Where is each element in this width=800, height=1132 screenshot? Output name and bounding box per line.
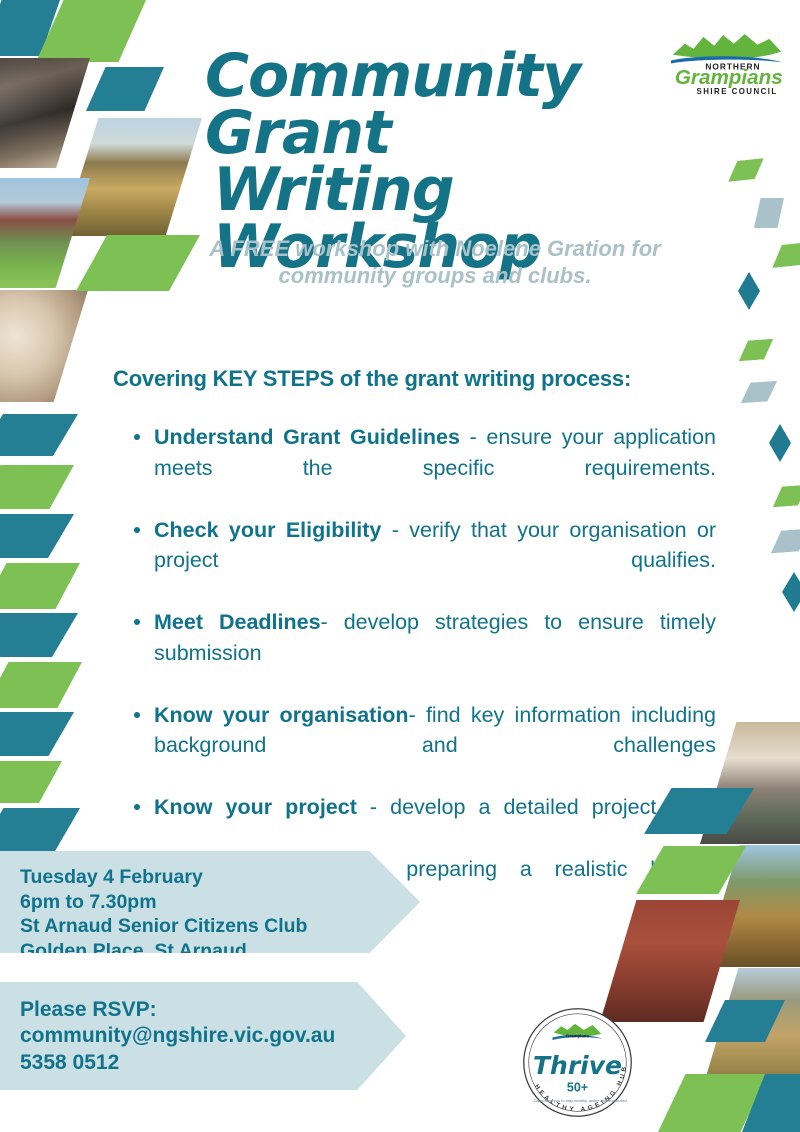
- thrive-logo-mark-label: Grampians: [566, 1034, 589, 1039]
- decor-shape-green: [0, 761, 62, 803]
- decor-shape-teal: [86, 67, 164, 111]
- decor-diamond-grey: [739, 381, 778, 404]
- key-step-item: Know your project - develop a detailed p…: [128, 792, 716, 853]
- key-step-lead: Know your organisation: [154, 703, 409, 727]
- decor-shape-teal: [0, 712, 74, 756]
- decor-diamond-teal: [782, 572, 800, 612]
- key-step-item: Know your organisation- find key informa…: [128, 700, 716, 792]
- rsvp-banner: Please RSVP: community@ngshire.vic.gov.a…: [0, 982, 406, 1090]
- key-step-lead: Know your project: [154, 795, 357, 819]
- key-step-item: Understand Grant Guidelines - ensure you…: [128, 422, 716, 514]
- decor-shape-teal: [0, 414, 78, 456]
- decor-diamond-green: [726, 158, 766, 182]
- decor-diamond-green: [771, 485, 800, 507]
- decor-shape-teal: [0, 514, 74, 558]
- title-line-1: Community Grant: [205, 41, 580, 168]
- key-steps-list: Understand Grant Guidelines - ensure you…: [128, 422, 716, 916]
- decor-shape-green-large: [76, 235, 200, 291]
- thrive-logo-tagline: Supporting you to stay healthy, active a…: [510, 1098, 650, 1103]
- thrive-logo: Grampians Thrive 50+ HEALTHY AGEING HUBS: [515, 1000, 640, 1125]
- key-step-lead: Understand Grant Guidelines: [154, 425, 460, 449]
- decor-shape-green: [0, 563, 80, 609]
- decor-shape-green: [0, 465, 74, 509]
- key-step-item: Meet Deadlines- develop strategies to en…: [128, 607, 716, 699]
- decor-shape-teal: [0, 613, 78, 657]
- decor-diamond-teal: [769, 424, 791, 462]
- key-step-item: Check your Eligibility - verify that you…: [128, 515, 716, 607]
- photo-grampians-rock-escarpment: [62, 118, 202, 236]
- rsvp-text: Please RSVP: community@ngshire.vic.gov.a…: [20, 997, 335, 1076]
- decor-diamond-grey: [754, 198, 784, 228]
- council-logo-name: Grampians: [675, 66, 783, 89]
- thrive-logo-age: 50+: [567, 1080, 588, 1094]
- thrive-logo-name: Thrive: [533, 1051, 622, 1080]
- key-step-lead: Meet Deadlines: [154, 610, 321, 634]
- subtitle: A FREE workshop with Noelene Gration for…: [205, 236, 665, 290]
- decor-diamond-green: [737, 339, 774, 361]
- poster-canvas: NORTHERN Grampians SHIRE COUNCIL Communi…: [0, 0, 800, 1132]
- covering-heading: Covering KEY STEPS of the grant writing …: [113, 366, 713, 392]
- event-details-text: Tuesday 4 February 6pm to 7.30pm St Arna…: [20, 865, 307, 963]
- key-step-lead: Check your Eligibility: [154, 518, 381, 542]
- decor-diamond-green: [770, 242, 800, 268]
- event-details-banner: Tuesday 4 February 6pm to 7.30pm St Arna…: [0, 851, 420, 953]
- council-logo: NORTHERN Grampians SHIRE COUNCIL: [668, 22, 786, 100]
- decor-diamond-teal: [738, 272, 760, 310]
- photo-carved-stone-face-sculpture: [0, 290, 88, 402]
- council-logo-shire-council: SHIRE COUNCIL: [697, 87, 778, 96]
- decor-shape-teal: [0, 808, 80, 852]
- decor-shape-green: [0, 662, 82, 708]
- photo-man-at-heritage-gate: [0, 58, 90, 168]
- decor-diamond-grey: [769, 529, 800, 554]
